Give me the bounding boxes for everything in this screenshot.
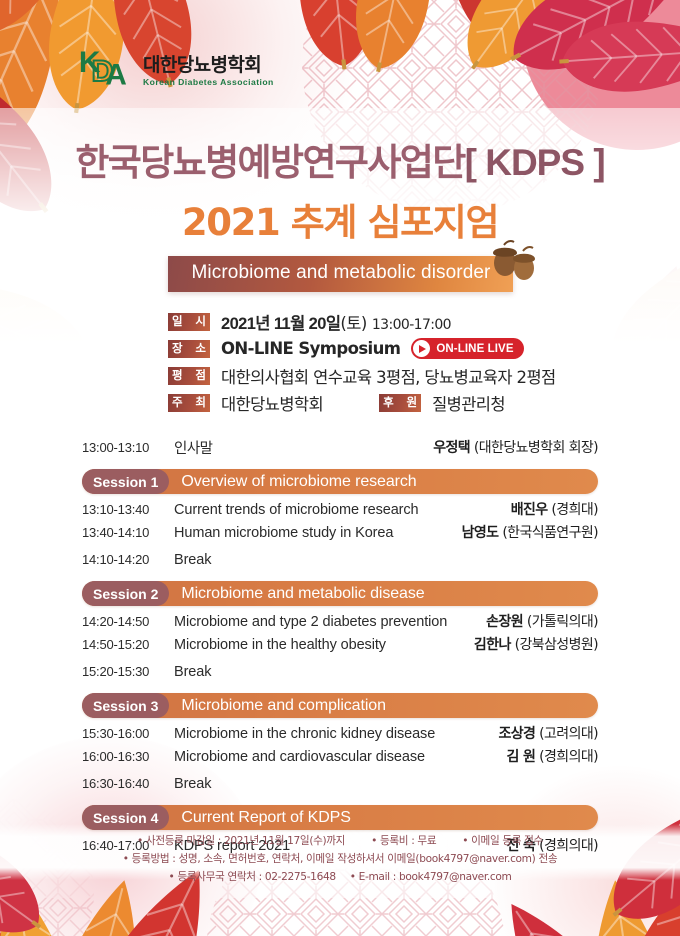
row-speaker: 손장원 (가톨릭의대) [486,611,598,631]
row-topic: 인사말 [174,437,433,458]
row-topic: Break [174,552,598,568]
info-value-credits: 대한의사협회 연수교육 3평점, 당뇨병교육자 2평점 [221,364,556,388]
poster-title-acronym: [ KDPS ] [465,142,605,183]
break-row: 14:10-14:20 Break [82,545,598,574]
speaker-name: 김한나 [474,637,511,653]
footer-fee: • 등록비 : 무료 [371,835,436,847]
row-time: 15:20-15:30 [82,664,174,679]
info-label-organizer: 주 최 [168,394,210,412]
autumn-leaf [0,278,83,468]
speaker-name: 조상경 [498,726,535,742]
svg-text:D: D [92,55,114,88]
row-topic: Current trends of microbiome research [174,502,511,518]
autumn-leaf [337,0,459,81]
speaker-affiliation: (경희대) [551,502,598,518]
session-pill-2: Session 2 [82,581,169,606]
footer-line-1: • 사전등록 마감일 : 2021년 11월 17일(수)까지• 등록비 : 무… [0,832,680,850]
poster-root: K A D 대한당뇨병학회 Korean Diabetes Associatio… [0,0,680,936]
registration-footer: • 사전등록 마감일 : 2021년 11월 17일(수)까지• 등록비 : 무… [0,832,680,887]
row-speaker: 배진우 (경희대) [511,499,598,519]
autumn-leaf [280,0,388,74]
subtitle-text: Microbiome and metabolic disorder [192,262,491,283]
poster-title-line2: 2021 추계 심포지엄 [0,192,680,246]
row-speaker: 조상경 (고려의대) [498,723,598,743]
pink-circle-accent [522,0,680,150]
table-row: 14:20-14:50 Microbiome and type 2 diabet… [82,611,598,634]
footer-method-note: • 이메일 등록 접수 [462,835,543,847]
row-topic: Human microbiome study in Korea [174,525,462,541]
session-title-3: Microbiome and complication [181,697,386,715]
autumn-leaf [404,0,562,73]
program-schedule: 13:00-13:10 인사말 우정택 (대한당뇨병학회 회장) Session… [82,432,598,858]
row-time: 16:30-16:40 [82,776,174,791]
table-row: 16:00-16:30 Microbiome and cardiovascula… [82,746,598,769]
footer-email: • E-mail : book4797@naver.com [350,871,512,883]
row-time: 14:50-15:20 [82,637,174,652]
speaker-affiliation: (가톨릭의대) [527,614,598,630]
session-pill-1: Session 1 [82,469,169,494]
row-speaker: 김한나 (강북삼성병원) [474,634,598,654]
row-topic: Microbiome and cardiovascular disease [174,749,506,765]
poster-title-line1: 한국당뇨병예방연구사업단[ KDPS ] [0,132,680,186]
table-row: 15:30-16:00 Microbiome in the chronic ki… [82,723,598,746]
row-topic: Break [174,776,598,792]
break-row: 15:20-15:30 Break [82,657,598,686]
speaker-name: 우정택 [433,440,470,456]
row-time: 14:20-14:50 [82,614,174,629]
info-row-credits: 평 점 대한의사협회 연수교육 3평점, 당뇨병교육자 2평점 [168,362,556,389]
info-value-organizer: 대한당뇨병학회 [221,391,323,415]
online-live-label: ON-LINE LIVE [436,343,513,355]
subtitle-banner-wrap: Microbiome and metabolic disorder [0,256,680,292]
row-time: 16:00-16:30 [82,749,174,764]
info-row-venue: 장 소 ON-LINE Symposium ON-LINE LIVE [168,335,556,362]
row-speaker: 김 원 (경희의대) [506,746,598,766]
speaker-affiliation: (한국식품연구원) [502,525,598,541]
footer-phone: • 등록사무국 연락처 : 02-2275-1648 [169,871,336,883]
info-value-date: 2021년 11월 20일(토) 13:00-17:00 [221,310,451,334]
footer-deadline: • 사전등록 마감일 : 2021년 11월 17일(수)까지 [137,835,345,847]
session-title-1: Overview of microbiome research [181,473,416,491]
session-pill-3: Session 3 [82,693,169,718]
break-row: 16:30-16:40 Break [82,769,598,798]
row-time: 13:40-14:10 [82,525,174,540]
session-bar-1: Session 1 Overview of microbiome researc… [82,469,598,494]
row-topic: Microbiome in the healthy obesity [174,637,474,653]
kda-logo-icon: K A D [78,44,136,100]
row-time: 13:00-13:10 [82,440,174,455]
speaker-affiliation: (강북삼성병원) [515,637,598,653]
speaker-name: 김 원 [506,749,535,765]
session-pill-4: Session 4 [82,805,169,830]
session-bar-2: Session 2 Microbiome and metabolic disea… [82,581,598,606]
info-label-date: 일 시 [168,313,210,331]
speaker-name: 손장원 [486,614,523,630]
row-topic: Break [174,664,598,680]
autumn-leaf [440,0,612,92]
row-topic: Microbiome and type 2 diabetes preventio… [174,614,486,630]
row-time: 15:30-16:00 [82,726,174,741]
info-label-sponsor: 후 원 [379,394,421,412]
row-speaker: 남영도 (한국식품연구원) [462,522,598,542]
info-row-organizer: 주 최 대한당뇨병학회 후 원 질병관리청 [168,389,556,416]
table-row: 13:40-14:10 Human microbiome study in Ko… [82,522,598,545]
autumn-leaf [489,0,680,100]
kda-logo: K A D 대한당뇨병학회 Korean Diabetes Associatio… [78,44,274,100]
autumn-leaf [556,6,680,103]
session-bar-4: Session 4 Current Report of KDPS [82,805,598,830]
kda-logo-name-ko: 대한당뇨병학회 [143,56,274,76]
speaker-name: 남영도 [462,525,499,541]
table-row: 13:10-13:40 Current trends of microbiome… [82,499,598,522]
poster-title-main: 한국당뇨병예방연구사업단 [75,141,464,184]
info-date-time: 13:00-17:00 [372,317,451,333]
session-title-4: Current Report of KDPS [181,809,350,827]
speaker-affiliation: (고려의대) [539,726,598,742]
footer-line-2: • 등록방법 : 성명, 소속, 면허번호, 연락처, 이메일 작성하셔서 이메… [0,850,680,868]
kda-logo-name-en: Korean Diabetes Association [143,77,274,87]
info-date-main: 2021년 11월 20일 [221,315,340,333]
event-info-block: 일 시 2021년 11월 20일(토) 13:00-17:00 장 소 ON-… [168,308,556,416]
speaker-name: 배진우 [511,502,548,518]
info-label-credits: 평 점 [168,367,210,385]
program-row-greeting: 13:00-13:10 인사말 우정택 (대한당뇨병학회 회장) [82,432,598,462]
info-row-date: 일 시 2021년 11월 20일(토) 13:00-17:00 [168,308,556,335]
row-speaker: 우정택 (대한당뇨병학회 회장) [433,437,598,457]
info-label-venue: 장 소 [168,340,210,358]
subtitle-banner: Microbiome and metabolic disorder [168,256,513,292]
info-value-sponsor: 질병관리청 [432,391,505,415]
play-icon [413,340,430,357]
info-value-venue: ON-LINE Symposium [221,339,400,358]
footer-line-3: • 등록사무국 연락처 : 02-2275-1648• E-mail : boo… [0,868,680,886]
row-topic: Microbiome in the chronic kidney disease [174,726,498,742]
info-sponsor-group: 후 원 질병관리청 [379,391,505,415]
session-title-2: Microbiome and metabolic disease [181,585,424,603]
row-time: 14:10-14:20 [82,552,174,567]
speaker-affiliation: (경희의대) [539,749,598,765]
table-row: 14:50-15:20 Microbiome in the healthy ob… [82,634,598,657]
row-time: 13:10-13:40 [82,502,174,517]
session-bar-3: Session 3 Microbiome and complication [82,693,598,718]
speaker-affiliation: (대한당뇨병학회 회장) [474,440,598,456]
info-date-weekday: (토) [340,314,366,333]
online-live-badge[interactable]: ON-LINE LIVE [411,338,523,359]
acorn-icon [485,239,541,283]
